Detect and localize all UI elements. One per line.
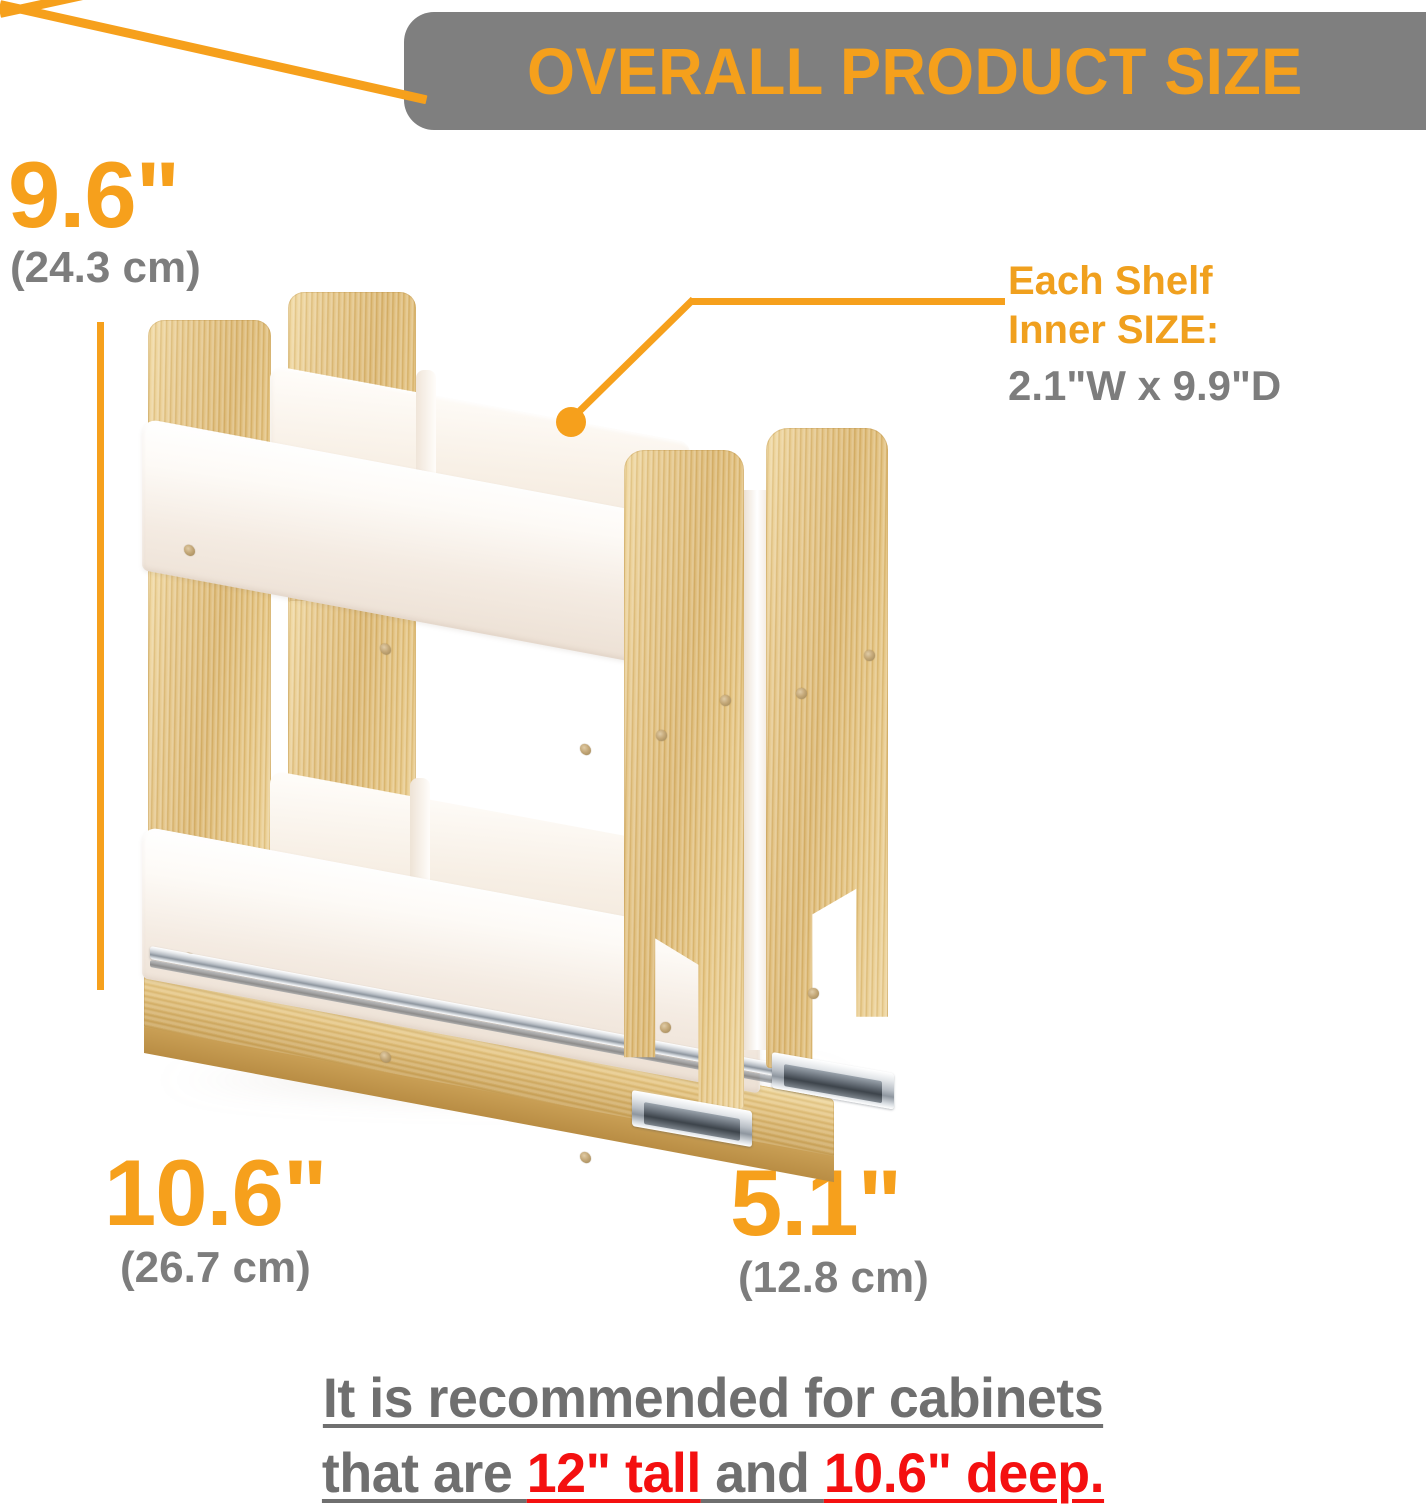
screw (580, 743, 591, 756)
recommendation-line-2-conjunction: and (701, 1441, 824, 1504)
dimension-height: 9.6" (24.3 cm) (8, 150, 201, 291)
screw (808, 988, 819, 999)
bamboo-side-panel-outer (766, 428, 888, 1068)
recommendation-highlight-depth: 10.6" deep. (824, 1441, 1104, 1504)
dimension-width-line (0, 0, 427, 104)
recommendation-line-2: that are 12" tall and 10.6" deep. (29, 1435, 1398, 1510)
screw (864, 650, 875, 661)
callout-line-1: Each Shelf (1008, 257, 1408, 306)
callout-leader-horizontal (690, 298, 1005, 305)
recommendation-line-1: It is recommended for cabinets (29, 1360, 1398, 1435)
screw (796, 688, 807, 699)
recommendation-line-2-prefix: that are (322, 1441, 527, 1504)
product-image (120, 270, 940, 1170)
screw (580, 1151, 591, 1164)
panel-connector (744, 490, 768, 1050)
dimension-height-line (97, 322, 104, 990)
callout-line-2: Inner SIZE: (1008, 306, 1408, 355)
screw (184, 544, 195, 557)
recommendation-note: It is recommended for cabinets that are … (0, 1360, 1426, 1510)
header-banner: OVERALL PRODUCT SIZE (404, 12, 1426, 130)
dimension-height-cm: (24.3 cm) (8, 245, 201, 291)
dimension-height-inches: 9.6" (8, 150, 201, 239)
screw (660, 1022, 671, 1033)
recommendation-highlight-height: 12" tall (527, 1441, 701, 1504)
dimension-width-inches: 10.6" (104, 1148, 327, 1237)
recommendation-line-1-text: It is recommended for cabinets (323, 1366, 1103, 1429)
dimension-width: 10.6" (26.7 cm) (104, 1148, 327, 1291)
screw (656, 730, 667, 741)
dimension-depth-cm: (12.8 cm) (730, 1255, 929, 1301)
callout-size-value: 2.1"W x 9.9"D (1008, 359, 1408, 413)
callout-shelf-inner-size: Each Shelf Inner SIZE: 2.1"W x 9.9"D (1008, 257, 1408, 412)
dimension-width-cm: (26.7 cm) (104, 1245, 327, 1291)
page-title: OVERALL PRODUCT SIZE (527, 33, 1302, 109)
shelf-divider-lower (410, 778, 430, 888)
screw (720, 695, 731, 706)
